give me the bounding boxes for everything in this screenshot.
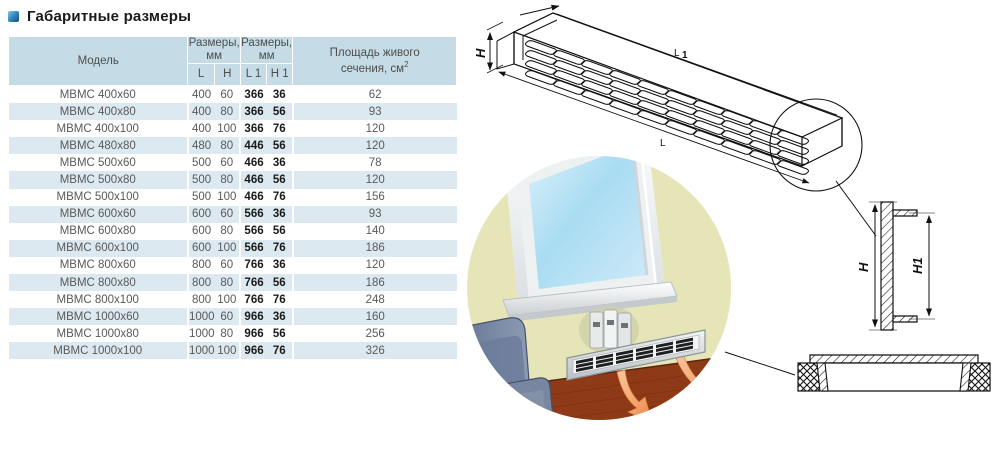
cell-l: 500 [188,171,214,188]
window-glass [529,145,647,289]
model: МВМС 600x60 [9,206,188,223]
model: МВМС 800x80 [9,274,188,291]
model: МВМС 800x60 [9,257,188,274]
table-row: МВМС 400x80400803665693 [9,103,457,120]
cell-h: 60 [214,86,240,103]
table-row: МВМС 1000x8010008096656256 [9,325,457,342]
cell-h: 100 [214,291,240,308]
dimension-label-l1: L [674,48,680,59]
cell-h1: 56 [267,171,293,188]
cell-area: 140 [293,223,457,240]
cell-l: 1000 [188,325,214,342]
square-bullet-icon [8,11,19,22]
cell-h1: 56 [267,103,293,120]
dimension-label-l1-sub: 1 [682,50,688,61]
cell-l1: 766 [240,291,266,308]
cell-area: 326 [293,342,457,359]
cell-h1: 56 [267,325,293,342]
table-row: МВМС 400x10040010036676120 [9,120,457,137]
column-header-area-line1: Площадь живого [330,47,420,59]
vertical-section-drawing [869,202,935,330]
cell-l: 600 [188,206,214,223]
model: МВМС 480x80 [9,137,188,154]
column-header-group-2: Размеры, мм [240,37,292,64]
column-header-model: Модель [9,37,188,86]
cell-h1: 36 [267,86,293,103]
table-header-row-group: Модель Размеры, мм Размеры, мм Площадь ж… [9,37,457,64]
cell-h: 60 [214,308,240,325]
cell-l: 400 [188,103,214,120]
cell-l: 800 [188,274,214,291]
cell-l1: 366 [240,86,266,103]
model: МВМС 400x60 [9,86,188,103]
table-row: МВМС 800x808008076656186 [9,274,457,291]
horizontal-mounting-section-drawing [725,352,990,391]
cell-area: 186 [293,274,457,291]
cell-area: 186 [293,240,457,257]
table-body: МВМС 400x60400603663662МВМС 400x80400803… [9,86,457,360]
cell-l1: 966 [240,308,266,325]
cell-h: 100 [214,240,240,257]
cell-h1: 76 [267,189,293,206]
model: МВМС 400x100 [9,120,188,137]
column-header-h: H [214,64,240,86]
cell-l: 500 [188,189,214,206]
cell-area: 93 [293,206,457,223]
cell-l1: 766 [240,274,266,291]
cell-l: 800 [188,257,214,274]
cell-l: 400 [188,86,214,103]
cell-l1: 466 [240,189,266,206]
model: МВМС 500x60 [9,154,188,171]
model: МВМС 400x80 [9,103,188,120]
cell-l1: 446 [240,137,266,154]
cell-h1: 76 [267,240,293,257]
cell-h1: 76 [267,342,293,359]
model: МВМС 1000x80 [9,325,188,342]
cell-l: 600 [188,240,214,257]
column-header-l1: L 1 [240,64,266,86]
dimensions-table: Модель Размеры, мм Размеры, мм Площадь ж… [8,36,457,359]
cell-h1: 76 [267,291,293,308]
model: МВМС 1000x60 [9,308,188,325]
cell-l: 1000 [188,342,214,359]
cell-area: 78 [293,154,457,171]
cell-h: 80 [214,325,240,342]
cell-area: 62 [293,86,457,103]
cell-h1: 76 [267,120,293,137]
cell-area: 120 [293,120,457,137]
cell-l: 500 [188,154,214,171]
cell-l1: 566 [240,223,266,240]
cell-area: 160 [293,308,457,325]
model: МВМС 600x80 [9,223,188,240]
model: МВМС 500x100 [9,189,188,206]
cell-l1: 466 [240,171,266,188]
cell-h1: 36 [267,206,293,223]
cell-l1: 966 [240,325,266,342]
cell-h: 60 [214,154,240,171]
cell-area: 120 [293,257,457,274]
table-row: МВМС 600x10060010056676186 [9,240,457,257]
cell-h1: 56 [267,137,293,154]
cell-l1: 966 [240,342,266,359]
dimension-label-h-section: H [856,262,871,272]
table-row: МВМС 1000x100100010096676326 [9,342,457,359]
column-header-group-1: Размеры, мм [188,37,240,64]
table-row: МВМС 600x806008056656140 [9,223,457,240]
cell-area: 120 [293,171,457,188]
cell-h1: 36 [267,308,293,325]
dimension-label-h1-section: H1 [910,257,925,274]
cell-h: 80 [214,103,240,120]
cell-h: 100 [214,120,240,137]
column-header-l: L [188,64,214,86]
duct-valve [590,310,631,348]
column-header-area: Площадь живого сечения, см2 [293,37,457,86]
cell-l: 600 [188,223,214,240]
cell-l1: 766 [240,257,266,274]
model: МВМС 800x100 [9,291,188,308]
page-title-text: Габаритные размеры [27,8,191,25]
cell-h: 100 [214,342,240,359]
cell-area: 120 [293,137,457,154]
cell-area: 248 [293,291,457,308]
table-row: МВМС 600x60600605663693 [9,206,457,223]
dimension-label-h-isometric: H [473,48,488,58]
table-row: МВМС 400x60400603663662 [9,86,457,103]
model: МВМС 500x80 [9,171,188,188]
cell-l1: 366 [240,103,266,120]
cell-h: 80 [214,171,240,188]
table-row: МВМС 500x10050010046676156 [9,189,457,206]
cell-h: 80 [214,274,240,291]
table-row: МВМС 500x60500604663678 [9,154,457,171]
cell-l: 800 [188,291,214,308]
model: МВМС 600x100 [9,240,188,257]
cell-h: 60 [214,257,240,274]
table-row: МВМС 800x608006076636120 [9,257,457,274]
cell-h: 100 [214,189,240,206]
cell-h1: 36 [267,257,293,274]
cell-h: 60 [214,206,240,223]
cell-l1: 566 [240,206,266,223]
cell-h: 80 [214,137,240,154]
cell-h1: 56 [267,274,293,291]
page-title: Габаритные размеры [8,8,191,25]
table-header: Модель Размеры, мм Размеры, мм Площадь ж… [9,37,457,86]
cell-l1: 466 [240,154,266,171]
cell-l: 400 [188,120,214,137]
column-header-area-line2: сечения, см [341,63,404,75]
table-row: МВМС 480x804808044656120 [9,137,457,154]
cell-h1: 56 [267,223,293,240]
model: МВМС 1000x100 [9,342,188,359]
cell-l: 1000 [188,308,214,325]
column-header-h1: H 1 [267,64,293,86]
table-row: МВМС 500x805008046656120 [9,171,457,188]
cell-l1: 566 [240,240,266,257]
cell-h: 80 [214,223,240,240]
cell-l1: 366 [240,120,266,137]
cell-area: 93 [293,103,457,120]
table-row: МВМС 1000x6010006096636160 [9,308,457,325]
cell-area: 156 [293,189,457,206]
room-installation-illustration [457,118,737,440]
dimension-label-l: L [660,138,666,149]
cell-l: 480 [188,137,214,154]
technical-drawings-panel: H L 1 L H H1 [457,0,1001,464]
cell-area: 256 [293,325,457,342]
cell-h1: 36 [267,154,293,171]
column-header-area-sup: 2 [404,60,408,69]
table-row: МВМС 800x10080010076676248 [9,291,457,308]
